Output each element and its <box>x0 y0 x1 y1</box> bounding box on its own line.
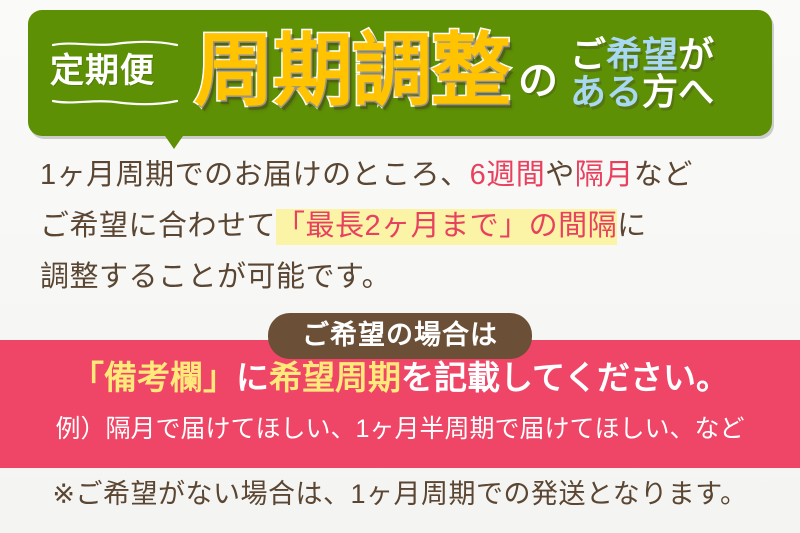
callout-seg-desired-cycle: 希望周期 <box>269 359 401 396</box>
wavy-rule-bottom-icon <box>52 98 178 106</box>
header-subtitle-line2: ある方へ <box>570 73 714 110</box>
header-main-title: 周期調整 <box>194 31 510 111</box>
header-subtitle-line1: ご希望が <box>570 36 714 73</box>
body-seg-bimonthly: 隔月 <box>575 159 634 191</box>
body-line-3: 調整することが可能です。 <box>40 252 770 303</box>
body-seg-1e: など <box>634 159 693 191</box>
callout-seg-please-write: を記載してください。 <box>401 359 729 396</box>
header-subtitle-block: ご希望が ある方へ <box>570 36 714 111</box>
callout-example-text: 例）隔月で届けてほしい、1ヶ月半周期で届けてほしい、など <box>0 414 800 444</box>
body-line-1: 1ヶ月周期でのお届けのところ、6週間や隔月など <box>40 150 770 201</box>
subtitle-seg-katahe: 方へ <box>642 71 714 112</box>
promo-banner: 定期便 周期調整 の ご希望が ある方へ 1ヶ月周期でのお届けのところ、6週間や… <box>0 0 800 533</box>
callout-seg-remarks-field: 「備考欄」 <box>71 359 236 396</box>
subtitle-seg-go: ご <box>570 34 606 75</box>
subtitle-seg-aru: ある <box>570 71 642 112</box>
wavy-rule-top-icon <box>52 40 178 48</box>
footer-note: ※ご希望がない場合は、1ヶ月周期での発送となります。 <box>0 478 800 510</box>
bubble-tail-icon <box>163 133 185 149</box>
body-seg-2c: に <box>617 210 647 242</box>
subscription-label-block: 定期便 <box>46 37 184 109</box>
header-title-particle: の <box>518 61 558 101</box>
body-paragraph: 1ヶ月周期でのお届けのところ、6週間や隔月など ご希望に合わせて「最長2ヶ月まで… <box>40 150 770 303</box>
callout-seg-ni: に <box>236 359 269 396</box>
subscription-label: 定期便 <box>50 54 178 90</box>
callout-main-text: 「備考欄」に希望周期を記載してください。 <box>0 358 800 398</box>
header-green-bubble: 定期便 周期調整 の ご希望が ある方へ <box>28 10 772 136</box>
subtitle-seg-ga: が <box>678 34 714 75</box>
body-seg-1a: 1ヶ月周期でのお届けのところ、 <box>40 159 470 191</box>
callout-band: 「備考欄」に希望周期を記載してください。 例）隔月で届けてほしい、1ヶ月半周期で… <box>0 340 800 468</box>
subtitle-seg-kibou: 希望 <box>606 34 678 75</box>
status-badge: ご希望の場合は <box>268 313 532 359</box>
body-seg-1c: や <box>545 159 575 191</box>
header-section: 定期便 周期調整 の ご希望が ある方へ <box>0 0 800 148</box>
body-seg-max-interval-highlight: 「最長2ヶ月まで」の間隔 <box>276 209 617 245</box>
body-seg-6weeks: 6週間 <box>470 159 546 191</box>
body-seg-2a: ご希望に合わせて <box>40 210 276 242</box>
body-line-2: ご希望に合わせて「最長2ヶ月まで」の間隔に <box>40 201 770 252</box>
